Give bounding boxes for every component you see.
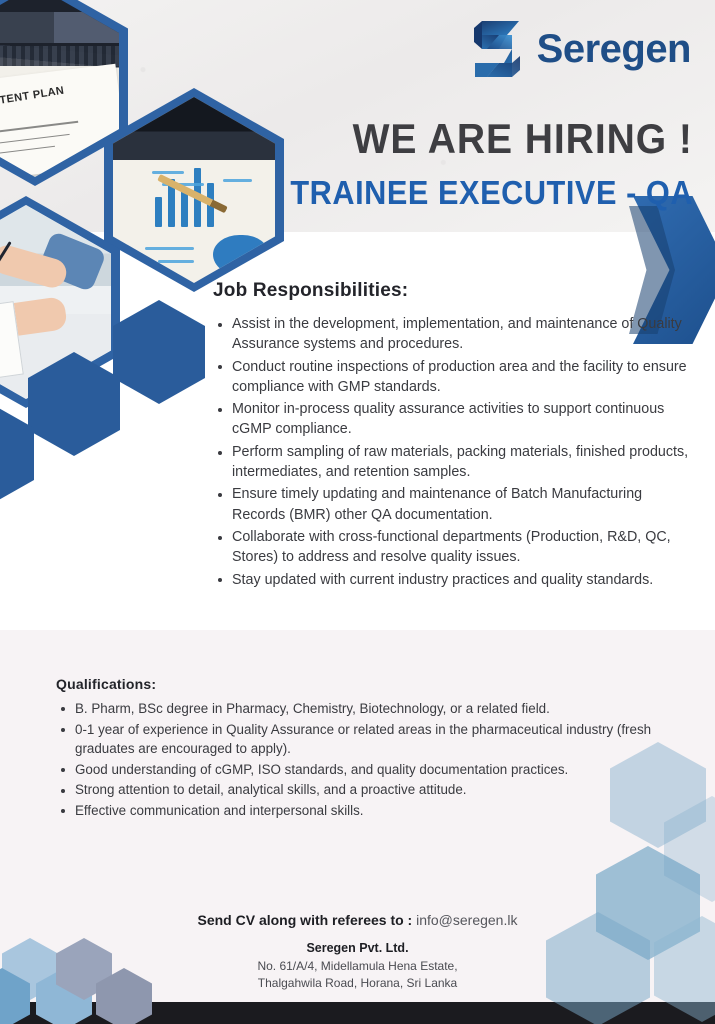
list-item: Conduct routine inspections of productio… [213,357,691,398]
qualifications-list: B. Pharm, BSc degree in Pharmacy, Chemis… [56,699,656,820]
job-responsibilities-section: Job Responsibilities: Assist in the deve… [213,280,691,592]
list-item: 0-1 year of experience in Quality Assura… [56,720,656,759]
job-responsibilities-title: Job Responsibilities: [213,280,691,302]
list-item: Stay updated with current industry pract… [213,570,691,590]
list-item: Ensure timely updating and maintenance o… [213,484,691,525]
list-item: Effective communication and interpersona… [56,801,656,821]
list-item: Perform sampling of raw materials, packi… [213,442,691,483]
qualifications-title: Qualifications: [56,676,656,692]
address-line-2: Thalgahwila Road, Horana, Sri Lanka [0,975,715,992]
job-poster: CONTENT PLAN [0,0,715,1024]
brand-logo: Seregen [469,18,691,80]
seregen-ribbon-s-logo-icon [469,18,525,80]
brand-name: Seregen [537,29,691,69]
address-line-1: No. 61/A/4, Midellamula Hena Estate, [0,958,715,975]
charts-photo-texture [113,97,275,283]
contact-email[interactable]: info@seregen.lk [416,912,517,928]
headline-we-are-hiring: WE ARE HIRING ! [353,118,693,160]
content-plan-caption: CONTENT PLAN [0,85,65,111]
list-item: Collaborate with cross-functional depart… [213,527,691,568]
company-legal-name: Seregen Pvt. Ltd. [0,941,715,955]
list-item: Strong attention to detail, analytical s… [56,780,656,800]
job-responsibilities-list: Assist in the development, implementatio… [213,314,691,590]
list-item: Good understanding of cGMP, ISO standard… [56,760,656,780]
list-item: B. Pharm, BSc degree in Pharmacy, Chemis… [56,699,656,719]
list-item: Monitor in-process quality assurance act… [213,399,691,440]
list-item: Assist in the development, implementatio… [213,314,691,355]
qualifications-section: Qualifications: B. Pharm, BSc degree in … [56,676,656,821]
contact-footer: Send CV along with referees to : info@se… [0,912,715,992]
send-cv-line: Send CV along with referees to : info@se… [0,912,715,928]
job-title-subhead: TRAINEE EXECUTIVE - QA [290,176,693,209]
send-cv-label: Send CV along with referees to : [198,912,413,928]
